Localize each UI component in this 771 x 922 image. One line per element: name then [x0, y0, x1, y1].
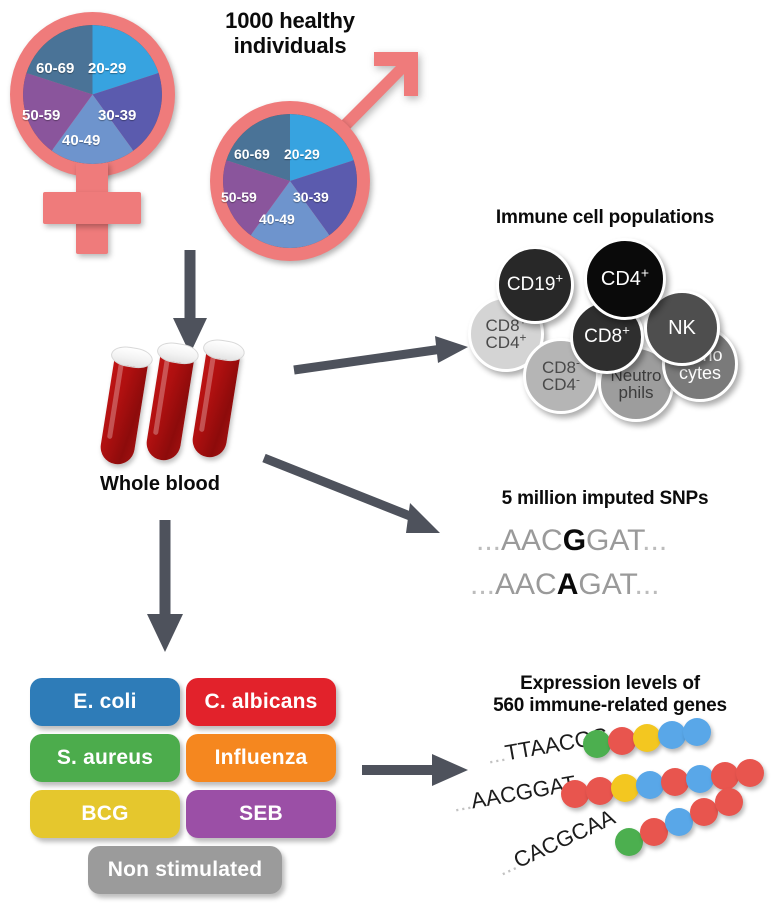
snp-prefix-ellipsis: ...	[476, 524, 501, 557]
expression-bead	[686, 765, 714, 793]
immune-cell-label: CD4+	[599, 269, 651, 289]
expression-strands-graphic: ...TTAACGG...AACGGAT...CACGCAA	[455, 730, 771, 910]
female-pie-label-50-59: 50-59	[22, 107, 60, 124]
stimulation-c-albicans[interactable]: C. albicans	[186, 678, 336, 726]
expression-bead	[561, 780, 589, 808]
female-pie-label-60-69: 60-69	[36, 60, 74, 77]
immune-cell-label: NK	[666, 318, 698, 338]
snp-prefix-ellipsis: ...	[470, 568, 495, 601]
expression-bead	[583, 730, 611, 758]
expression-bead	[608, 727, 636, 755]
snp-prefix-bases: AAC	[495, 568, 557, 601]
snps-section-title: 5 million imputed SNPs	[455, 488, 755, 510]
expression-section-title: Expression levels of 560 immune-related …	[455, 673, 765, 717]
stimulation-bcg[interactable]: BCG	[30, 790, 180, 838]
expression-bead	[736, 759, 764, 787]
expression-bead	[633, 724, 661, 752]
snp-sequence-line: ...AACGGAT...	[476, 524, 667, 558]
female-cross-icon	[43, 192, 141, 224]
expression-bead	[665, 808, 693, 836]
male-pie-label-20-29: 20-29	[284, 146, 320, 162]
expression-bead	[711, 762, 739, 790]
male-pie-svg	[223, 114, 357, 248]
stimulation-seb[interactable]: SEB	[186, 790, 336, 838]
expression-bead	[715, 788, 743, 816]
stimulation-label: Non stimulated	[108, 858, 262, 882]
blood-tube	[98, 345, 150, 467]
stimulation-s-aureus[interactable]: S. aureus	[30, 734, 180, 782]
expression-bead	[661, 768, 689, 796]
stimulation-grid: E. coliC. albicansS. aureusInfluenzaBCGS…	[30, 678, 340, 904]
female-pie-label-40-49: 40-49	[62, 132, 100, 149]
snp-sequence-graphic: ...AACGGAT......AACAGAT...	[470, 524, 750, 614]
stimulation-label: C. albicans	[204, 690, 317, 714]
male-pie-label-50-59: 50-59	[221, 189, 257, 205]
stimulation-label: S. aureus	[57, 746, 153, 770]
stimulation-label: BCG	[81, 802, 128, 826]
expression-bead	[586, 777, 614, 805]
expression-bead	[636, 771, 664, 799]
snp-suffix-bases: GAT	[578, 568, 634, 601]
snp-variant-base: G	[563, 524, 586, 557]
expression-bead	[690, 798, 718, 826]
snp-sequence-line: ...AACAGAT...	[470, 568, 660, 602]
immune-cell-cd19[interactable]: CD19+	[496, 246, 574, 324]
immune-section-title: Immune cell populations	[455, 207, 755, 229]
expression-bead	[640, 818, 668, 846]
whole-blood-label: Whole blood	[60, 473, 260, 496]
expression-bead	[611, 774, 639, 802]
male-age-pie-chart	[223, 114, 357, 248]
expression-sequence-label: ...AACGGAT	[451, 770, 578, 817]
immune-cell-label: CD8-CD4-	[540, 359, 582, 394]
arrow-stimulations-to-expression	[360, 750, 470, 790]
expression-bead	[683, 718, 711, 746]
blood-tubes-icon	[96, 340, 256, 470]
male-pie-label-30-39: 30-39	[293, 189, 329, 205]
snp-variant-base: A	[557, 568, 579, 601]
arrow-blood-to-stimulations	[135, 520, 195, 655]
arrow-blood-to-immune	[292, 330, 472, 380]
snp-prefix-bases: AAC	[501, 524, 563, 557]
stimulation-influenza[interactable]: Influenza	[186, 734, 336, 782]
male-pie-label-40-49: 40-49	[259, 211, 295, 227]
expression-bead	[658, 721, 686, 749]
immune-cell-label: CD8+	[582, 327, 632, 346]
female-pie-label-20-29: 20-29	[88, 60, 126, 77]
immune-cell-label: CD19+	[505, 275, 565, 294]
stimulation-non-stimulated[interactable]: Non stimulated	[88, 846, 282, 894]
female-symbol: 60-69 20-29 50-59 30-39 40-49	[10, 12, 200, 260]
expression-bead	[615, 828, 643, 856]
arrow-blood-to-snps	[260, 450, 460, 560]
stimulation-label: Influenza	[215, 746, 308, 770]
stimulation-label: SEB	[239, 802, 283, 826]
stimulation-e-coli[interactable]: E. coli	[30, 678, 180, 726]
male-symbol: 60-69 20-29 50-59 30-39 40-49	[205, 88, 405, 258]
female-pie-label-30-39: 30-39	[98, 107, 136, 124]
immune-cell-cd4[interactable]: CD4+	[584, 238, 666, 320]
expression-sequence-label: ...CACGCAA	[493, 804, 619, 881]
snp-suffix-ellipsis: ...	[635, 568, 660, 601]
snp-suffix-ellipsis: ...	[642, 524, 667, 557]
male-pie-label-60-69: 60-69	[234, 146, 270, 162]
expression-title-line-1: Expression levels of	[455, 673, 765, 695]
expression-title-line-2: 560 immune-related genes	[455, 695, 765, 717]
immune-cell-cluster: CD19+CD4+NKCD8+CD8+CD4+CD8-CD4-Neutrophi…	[468, 238, 768, 428]
snp-suffix-bases: GAT	[586, 524, 642, 557]
diagram-canvas: 1000 healthy individuals 60-69 20-29 50-…	[0, 0, 771, 922]
stimulation-label: E. coli	[73, 690, 136, 714]
